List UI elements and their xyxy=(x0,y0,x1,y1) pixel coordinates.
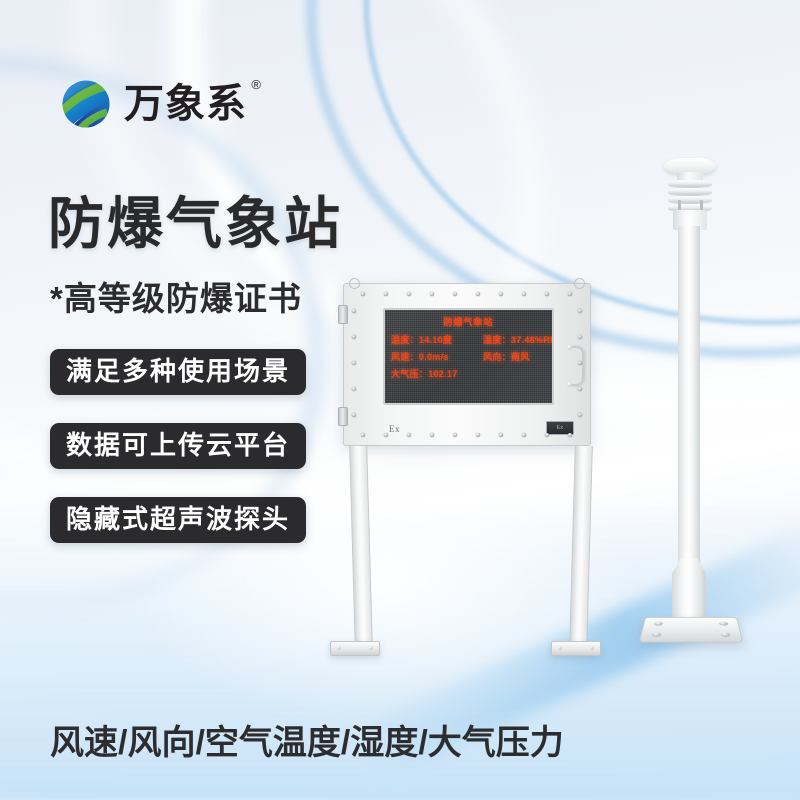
feature-tagline: 风速/风向/空气温度/湿度/大气压力 xyxy=(50,726,564,760)
cabinet-bolt-bottom-0 xyxy=(361,433,365,437)
cabinet-bolt-right-4 xyxy=(578,413,582,417)
cabinet-bolt-top-0 xyxy=(361,292,365,296)
led-display-title: 防爆气象站 xyxy=(385,315,552,328)
radiation-shield-louver-2 xyxy=(668,188,712,195)
stand-foot-right xyxy=(551,641,601,656)
cabinet-bolt-right-2 xyxy=(578,361,582,365)
hinge-bottom-icon xyxy=(338,407,348,426)
cabinet-bolt-bottom-1 xyxy=(384,433,388,437)
lift-eye-left-icon xyxy=(349,278,360,289)
led-reading-wind-direction: 风向：南风 xyxy=(483,350,554,363)
led-reading-air-pressure: 大气压：102.17 xyxy=(391,367,483,380)
door-handle-icon[interactable] xyxy=(571,346,584,386)
cabinet-bolt-left-4 xyxy=(352,413,356,417)
cabinet-bolt-bottom-3 xyxy=(430,433,434,437)
cabinet-bolt-left-1 xyxy=(352,335,356,339)
led-reading-temperature: 温度：14.10度 xyxy=(391,333,483,346)
cabinet-bolt-bottom-8 xyxy=(545,433,549,437)
led-reading-wind-speed: 风速：0.0m/s xyxy=(391,350,483,363)
globe-swirl-logo-icon xyxy=(58,76,114,132)
explosion-proof-display-cabinet: 防爆气象站 温度：14.10度 湿度：37.48%RH 风速：0.0m/s 风向… xyxy=(343,283,591,446)
cabinet-bolt-bottom-6 xyxy=(499,433,503,437)
cabinet-bolt-right-0 xyxy=(578,309,582,313)
radiation-shield-louver-1 xyxy=(668,180,712,187)
cabinet-bolt-top-2 xyxy=(407,292,411,296)
cabinet-bolt-top-3 xyxy=(430,292,434,296)
feature-badge-2: 数据可上传云平台 xyxy=(50,423,306,469)
led-reading-humidity: 湿度：37.48%RH xyxy=(483,333,554,346)
mast-pole xyxy=(678,226,700,604)
radiation-shield-louver-3 xyxy=(668,196,712,203)
cabinet-bolt-top-4 xyxy=(453,292,457,296)
background-center-glow xyxy=(120,430,640,730)
registered-trademark-mark: ® xyxy=(251,78,262,91)
lift-eye-right-icon xyxy=(574,278,585,289)
cabinet-bolt-top-6 xyxy=(499,292,503,296)
cabinet-bolt-right-1 xyxy=(578,335,582,339)
cabinet-bolt-bottom-7 xyxy=(522,433,526,437)
cabinet-bolt-bottom-9 xyxy=(568,433,572,437)
feature-badge-1: 满足多种使用场景 xyxy=(50,349,306,395)
stand-foot-left xyxy=(330,641,380,656)
page-subtitle: *高等级防爆证书 xyxy=(50,282,302,315)
cabinet-bolt-left-2 xyxy=(352,361,356,365)
feature-badge-3: 隐藏式超声波探头 xyxy=(50,497,306,543)
sensor-neck xyxy=(677,172,703,180)
cabinet-bolt-left-0 xyxy=(352,309,356,313)
cabinet-bolt-right-3 xyxy=(578,387,582,391)
hinge-top-icon xyxy=(338,305,348,324)
led-readings-grid: 温度：14.10度 湿度：37.48%RH 风速：0.0m/s 风向：南风 大气… xyxy=(391,333,552,380)
brand-name: 万象系® xyxy=(124,84,247,124)
cabinet-bolt-top-5 xyxy=(476,292,480,296)
brand-logo: 万象系® xyxy=(58,76,247,132)
mast-base-flare xyxy=(672,558,706,618)
ex-certification-marking: Ex xyxy=(389,424,400,434)
mounting-flange-icon xyxy=(639,617,744,643)
cabinet-bolt-top-8 xyxy=(545,292,549,296)
brand-name-text: 万象系 xyxy=(124,82,247,126)
cabinet-bolt-bottom-2 xyxy=(407,433,411,437)
cabinet-bolt-top-7 xyxy=(522,292,526,296)
cabinet-bolt-top-1 xyxy=(384,292,388,296)
product-advertisement-page: 万象系® 防爆气象站 *高等级防爆证书 满足多种使用场景 数据可上传云平台 隐藏… xyxy=(0,0,800,800)
led-display-screen: 防爆气象站 温度：14.10度 湿度：37.48%RH 风速：0.0m/s 风向… xyxy=(383,308,554,405)
cabinet-bolt-bottom-4 xyxy=(453,433,457,437)
cabinet-bolt-top-9 xyxy=(568,292,572,296)
page-title: 防爆气象站 xyxy=(48,196,343,252)
cabinet-bolt-bottom-5 xyxy=(476,433,480,437)
ultrasonic-sensor-mast xyxy=(620,148,780,663)
cabinet-bolt-left-3 xyxy=(352,387,356,391)
